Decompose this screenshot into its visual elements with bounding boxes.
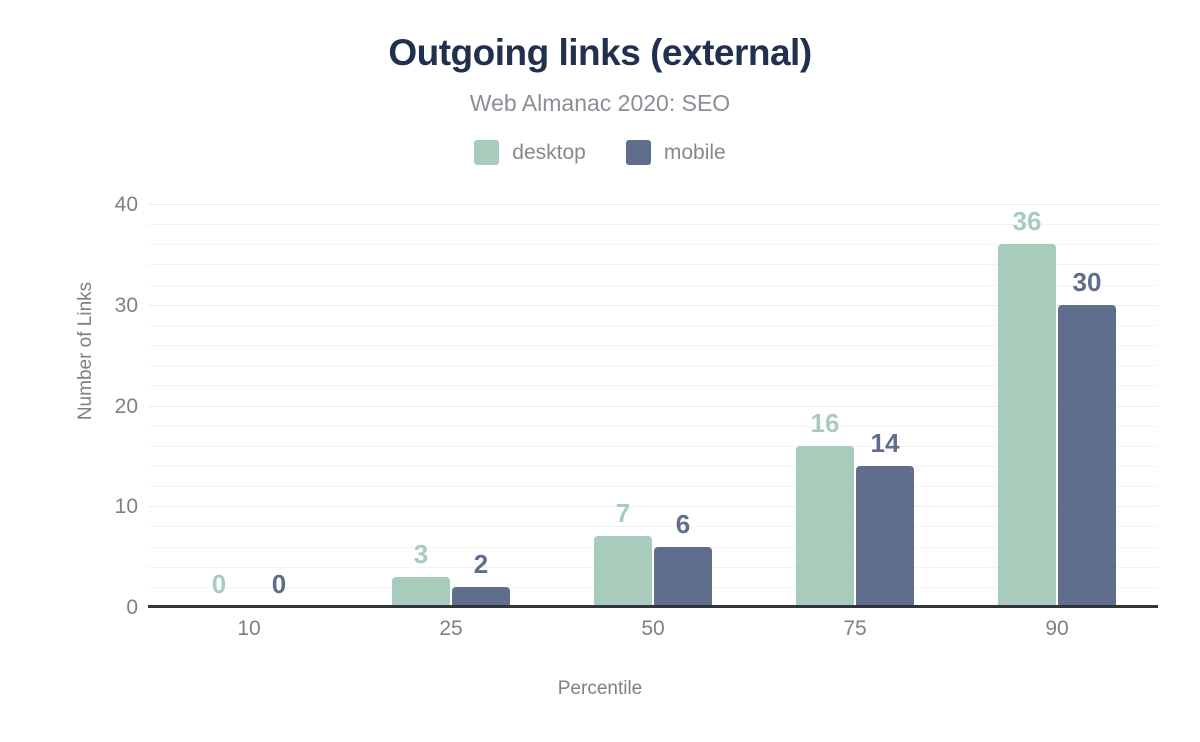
bar-value-label-desktop-90: 36 bbox=[998, 206, 1056, 236]
bar-mobile-25[interactable] bbox=[452, 587, 510, 607]
chart-subtitle: Web Almanac 2020: SEO bbox=[0, 88, 1200, 118]
chart-legend: desktop mobile bbox=[0, 140, 1200, 165]
y-axis-title: Number of Links bbox=[75, 251, 97, 451]
x-axis-tick-label: 75 bbox=[754, 616, 956, 641]
legend-swatch-mobile bbox=[626, 140, 651, 165]
legend-item-mobile[interactable]: mobile bbox=[626, 140, 726, 165]
y-axis-tick-label: 30 bbox=[18, 295, 138, 316]
x-axis-title: Percentile bbox=[0, 678, 1200, 700]
y-axis-tick-label: 20 bbox=[18, 396, 138, 417]
bar-value-label-desktop-25: 3 bbox=[392, 539, 450, 569]
bar-value-label-mobile-50: 6 bbox=[654, 509, 712, 539]
bar-desktop-90[interactable] bbox=[998, 244, 1056, 607]
x-axis-tick-label: 90 bbox=[956, 616, 1158, 641]
legend-label-mobile: mobile bbox=[664, 140, 726, 165]
bar-value-label-mobile-25: 2 bbox=[452, 549, 510, 579]
bar-desktop-50[interactable] bbox=[594, 536, 652, 607]
x-axis-tick-label: 50 bbox=[552, 616, 754, 641]
chart-title: Outgoing links (external) bbox=[0, 30, 1200, 76]
bar-value-label-mobile-90: 30 bbox=[1058, 267, 1116, 297]
bar-desktop-75[interactable] bbox=[796, 446, 854, 607]
legend-swatch-desktop bbox=[474, 140, 499, 165]
y-axis-tick-label: 0 bbox=[18, 597, 138, 618]
bar-value-label-mobile-75: 14 bbox=[856, 428, 914, 458]
x-axis-tick-label: 25 bbox=[350, 616, 552, 641]
y-axis-tick-label: 10 bbox=[18, 496, 138, 517]
bar-desktop-25[interactable] bbox=[392, 577, 450, 607]
x-axis-tick-label: 10 bbox=[148, 616, 350, 641]
bar-chart: Outgoing links (external) Web Almanac 20… bbox=[0, 0, 1200, 742]
bar-value-label-mobile-10: 0 bbox=[250, 569, 308, 599]
legend-item-desktop[interactable]: desktop bbox=[474, 140, 586, 165]
gridline-major bbox=[148, 204, 1158, 205]
legend-label-desktop: desktop bbox=[512, 140, 586, 165]
y-axis-tick-label: 40 bbox=[18, 194, 138, 215]
bar-mobile-75[interactable] bbox=[856, 466, 914, 607]
bar-value-label-desktop-75: 16 bbox=[796, 408, 854, 438]
bar-mobile-50[interactable] bbox=[654, 547, 712, 607]
bar-value-label-desktop-10: 0 bbox=[190, 569, 248, 599]
x-axis-baseline bbox=[148, 605, 1158, 608]
bar-value-label-desktop-50: 7 bbox=[594, 498, 652, 528]
bar-mobile-90[interactable] bbox=[1058, 305, 1116, 607]
plot-area: 00327616143630 bbox=[148, 204, 1158, 607]
